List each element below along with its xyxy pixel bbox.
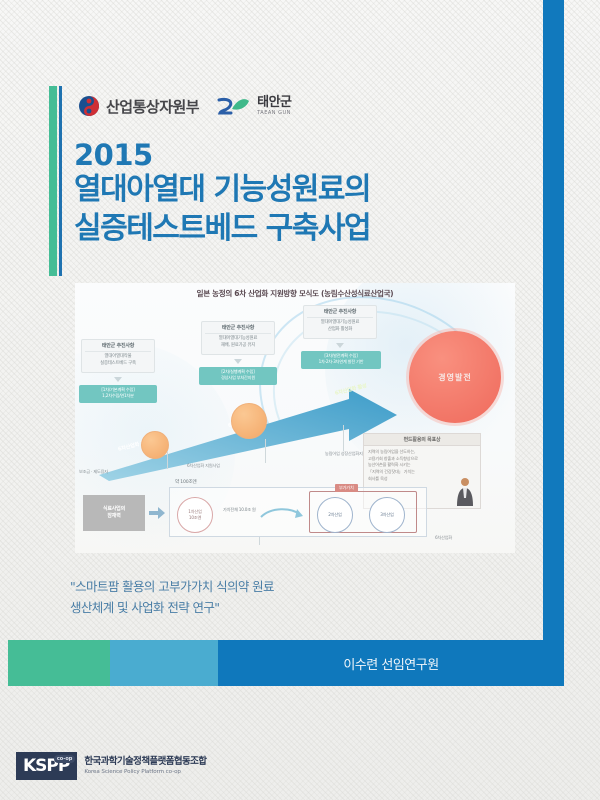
- potential-foot-leader: [259, 537, 260, 545]
- potential-caption-100: 약 100조엔: [175, 479, 197, 485]
- logo-row: 산업통상자원부 태안군 TAEAN GUN: [78, 95, 292, 117]
- kspp-name-kr: 한국과학기술정책플랫폼협동조합: [84, 757, 206, 768]
- motie-label: 산업통상자원부: [106, 96, 199, 117]
- diagram-box-3-header: 태안군 추진사항: [307, 308, 373, 318]
- diagram-leader-2: [265, 439, 266, 463]
- industry-circle-2: 2차산업: [317, 497, 353, 533]
- diagram-box-2: 태안군 추진사항 열대아열대기능성원료 재배, 원료가공 유지: [201, 321, 275, 355]
- taean-label-en: TAEAN GUN: [257, 111, 291, 116]
- industry-circle-3: 3차산업: [369, 497, 405, 533]
- kspp-coop-tag: co-op: [54, 755, 76, 763]
- diagram-note-1: 6차산업화 지원사업: [187, 463, 220, 469]
- potential-arrow-icon: [149, 507, 165, 519]
- logo-motie: 산업통상자원부: [78, 95, 199, 117]
- title-accent-bars: [49, 86, 63, 276]
- potential-panel: 식료사업의 잠재력 약 100조엔 1차산업 10조엔 가치전체 10.0조 원…: [83, 483, 503, 545]
- diagram-arrow-3: [336, 343, 344, 348]
- diagram-box-3-body: 열대아열대기능성원료 산업화 활성화: [307, 320, 373, 333]
- kspp-footer: KSPP co-op 한국과학기술정책플랫폼협동조합 Korea Science…: [16, 752, 206, 780]
- taean-label-group: 태안군 TAEAN GUN: [257, 96, 291, 116]
- taean-label-kr: 태안군: [257, 96, 291, 109]
- logo-taean: 태안군 TAEAN GUN: [217, 95, 291, 117]
- motie-taegeuk-icon: [78, 95, 100, 117]
- kspp-logo-badge: KSPP co-op: [16, 752, 77, 780]
- slide-cover: 산업통상자원부 태안군 TAEAN GUN 2015 열대아열대 기능성원료의 …: [0, 0, 600, 800]
- kspp-name-en: Korea Science Policy Platform co-op: [84, 769, 206, 775]
- title-line-2: 실증테스트베드 구축사업: [74, 210, 370, 248]
- diagram-teal-tag-3: [3차/발전계획 수립] 1차·2차·3차연계 발전 기반: [301, 351, 381, 369]
- diagram-box-3: 태안군 추진사항 열대아열대기능성원료 산업화 활성화: [303, 305, 377, 339]
- diagram-leader-3: [343, 425, 344, 451]
- diagram-leader-1: [167, 451, 168, 469]
- goal-circle: 경영발전: [409, 331, 501, 423]
- stage-circle-1: [141, 431, 169, 459]
- fund-info-header: 펀드활용의 목표상: [364, 434, 480, 446]
- author-name: 이수련 선임연구원: [218, 640, 564, 686]
- potential-foot-note: 6차산업화: [435, 535, 452, 541]
- subtitle-quote-line-1: "스마트팜 활용의 고부가가치 식의약 원료: [70, 576, 274, 597]
- industry-circle-1: 1차산업 10조엔: [177, 497, 213, 533]
- title-year: 2015: [74, 140, 370, 171]
- diagram-box-2-header: 태안군 추진사항: [205, 324, 271, 334]
- diagram-arrow-2: [234, 359, 242, 364]
- potential-grey-box: 식료사업의 잠재력: [83, 495, 145, 531]
- diagram-heading: 일본 농정의 6차 산업화 지원방향 모식도 (농림수산성식료산업국): [75, 288, 515, 299]
- value-added-tag: 부가가치: [335, 484, 358, 492]
- subtitle-quote-line-2: 생산체계 및 사업화 전략 연구": [70, 597, 274, 618]
- footer-block-cyan: [110, 640, 218, 686]
- diagram-figure: 일본 농정의 6차 산업화 지원방향 모식도 (농림수산성식료산업국) 태안군 …: [75, 283, 515, 553]
- right-accent-stripe: [543, 0, 564, 668]
- accent-bar-green: [49, 86, 57, 276]
- diagram-box-1-header: 태안군 추진사항: [85, 342, 151, 352]
- diagram-box-1: 태안군 추진사항 열대아열대작물 실증테스트베드 구축: [81, 339, 155, 373]
- taean-gun-icon: [217, 95, 251, 117]
- diagram-note-0: 보조금 · 제도융자: [79, 469, 108, 475]
- diagram-arrow-1: [114, 377, 122, 382]
- value-flow-arrow: [259, 505, 303, 521]
- diagram-teal-tag-2: [2차/실행계획 수립] 경상사업 부처간지원: [199, 367, 277, 385]
- page-title: 2015 열대아열대 기능성원료의 실증테스트베드 구축사업: [74, 140, 370, 248]
- diagram-box-1-body: 열대아열대작물 실증테스트베드 구축: [85, 354, 151, 367]
- title-line-1: 열대아열대 기능성원료의: [74, 171, 370, 209]
- accent-bar-blue: [59, 86, 62, 276]
- kspp-name-group: 한국과학기술정책플랫폼협동조합 Korea Science Policy Pla…: [84, 757, 206, 775]
- diagram-box-2-body: 열대아열대기능성원료 재배, 원료가공 유지: [205, 336, 271, 349]
- goal-circle-label: 경영발전: [438, 372, 471, 383]
- stage-circle-2: [231, 403, 267, 439]
- value-flow-label: 가치전체 10.0조 원: [223, 507, 256, 513]
- footer-block-green: [8, 640, 110, 686]
- subtitle-quote: "스마트팜 활용의 고부가가치 식의약 원료 생산체계 및 사업화 전략 연구": [70, 576, 274, 619]
- footer-color-bar: 이수련 선임연구원: [0, 640, 600, 686]
